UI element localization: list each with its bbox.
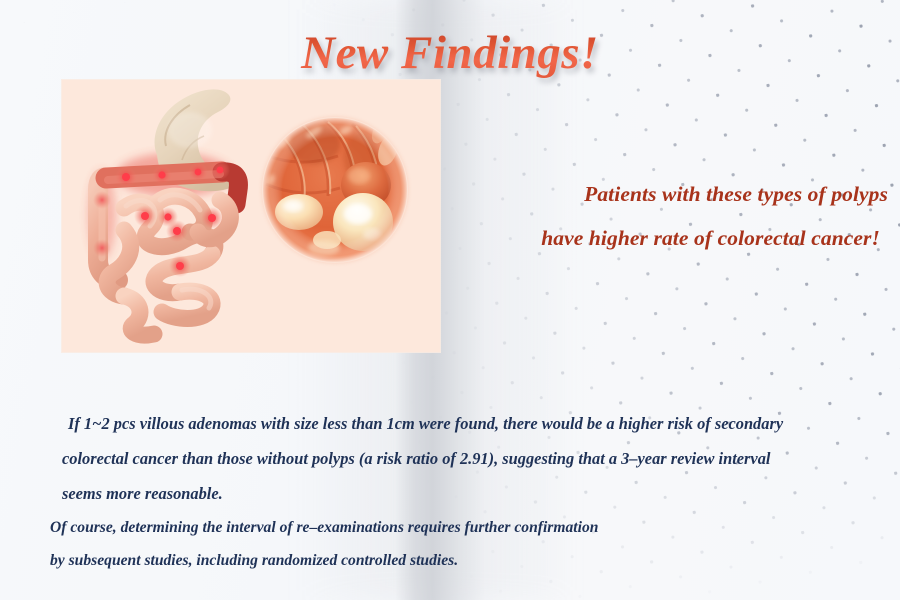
paragraph-2-line-1: Of course, determining the interval of r… [50,511,880,544]
headline-block: Patients with these types of polyps have… [396,172,888,260]
slide-canvas: New Findings! [0,0,900,600]
body-paragraph-2: Of course, determining the interval of r… [50,511,880,577]
headline-line-2: have higher rate of colorectal cancer! [396,216,888,260]
page-title: New Findings! [295,26,605,80]
paragraph-2-line-2: by subsequent studies, including randomi… [50,544,880,577]
body-paragraph-1: If 1~2 pcs villous adenomas with size le… [62,406,894,511]
headline-line-1: Patients with these types of polyps [396,172,888,216]
figure-medical-illustration [62,80,440,352]
digestive-tract-illustration-svg [62,80,440,352]
paragraph-1-line-2: colorectal cancer than those without pol… [62,441,894,476]
paragraph-1-line-3: seems more reasonable. [62,476,894,511]
paragraph-1-line-1: If 1~2 pcs villous adenomas with size le… [62,406,894,441]
title-container: New Findings! [0,26,900,80]
